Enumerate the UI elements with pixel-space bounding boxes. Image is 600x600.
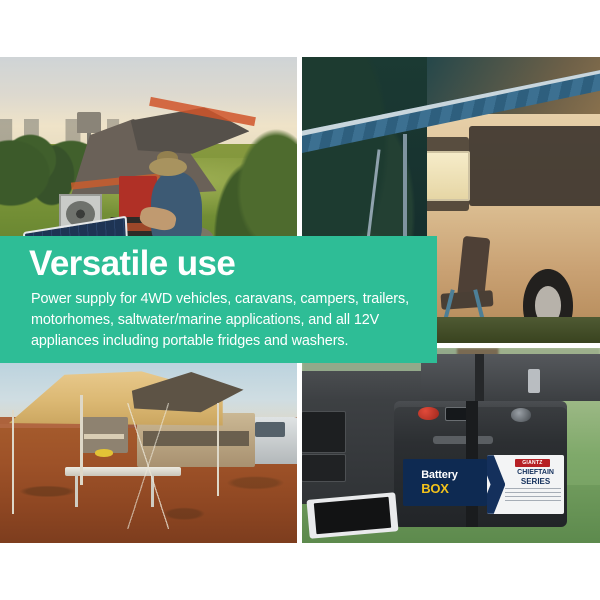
- photo-outback-camper: [0, 363, 297, 543]
- spec-sticker: GIANTZ CHIEFTAIN SERIES: [487, 455, 564, 514]
- power-switch-knob: [418, 407, 439, 421]
- fridge-lower-panel: [302, 454, 346, 483]
- banner-body-line: Power supply for 4WD vehicles, caravans,…: [31, 289, 423, 310]
- battery-box-label: Battery BOX: [403, 459, 486, 506]
- series-title-line-1: CHIEFTAIN: [510, 469, 561, 476]
- fridge-lid-strap: [475, 354, 484, 401]
- fridge-lid: [421, 354, 600, 401]
- banner-body-line: appliances including portable fridges an…: [31, 331, 423, 352]
- banner-heading: Versatile use: [29, 246, 235, 281]
- spec-feature-rows: [505, 488, 561, 503]
- feature-banner: Versatile use Power supply for 4WD vehic…: [0, 236, 437, 363]
- hat-brim: [149, 158, 188, 176]
- banner-body-line: motorhomes, saltwater/marine application…: [31, 310, 423, 331]
- brand-tag: GIANTZ: [515, 459, 551, 467]
- outback-scene: [0, 363, 297, 543]
- caravan-window: [424, 151, 470, 201]
- battery-box-handle: [433, 436, 493, 444]
- tablet-device: [306, 492, 398, 539]
- battery-box-label-line-1: Battery: [421, 470, 487, 481]
- product-scene: Battery BOX GIANTZ CHIEFTAIN SERIES: [302, 348, 600, 543]
- guy-ropes: [0, 403, 297, 529]
- product-feature-poster: Battery BOX GIANTZ CHIEFTAIN SERIES Vers…: [0, 0, 600, 600]
- battery-box-label-line-2: BOX: [421, 482, 487, 495]
- caravan-panel-right: [469, 126, 600, 206]
- banner-body: Power supply for 4WD vehicles, caravans,…: [31, 289, 423, 351]
- chevron-graphic: [487, 455, 506, 514]
- fridge-control-panel: [302, 411, 346, 453]
- photo-product-battery-box: Battery BOX GIANTZ CHIEFTAIN SERIES: [302, 348, 600, 543]
- fridge-latch: [528, 369, 540, 392]
- series-title-line-2: SERIES: [510, 477, 561, 486]
